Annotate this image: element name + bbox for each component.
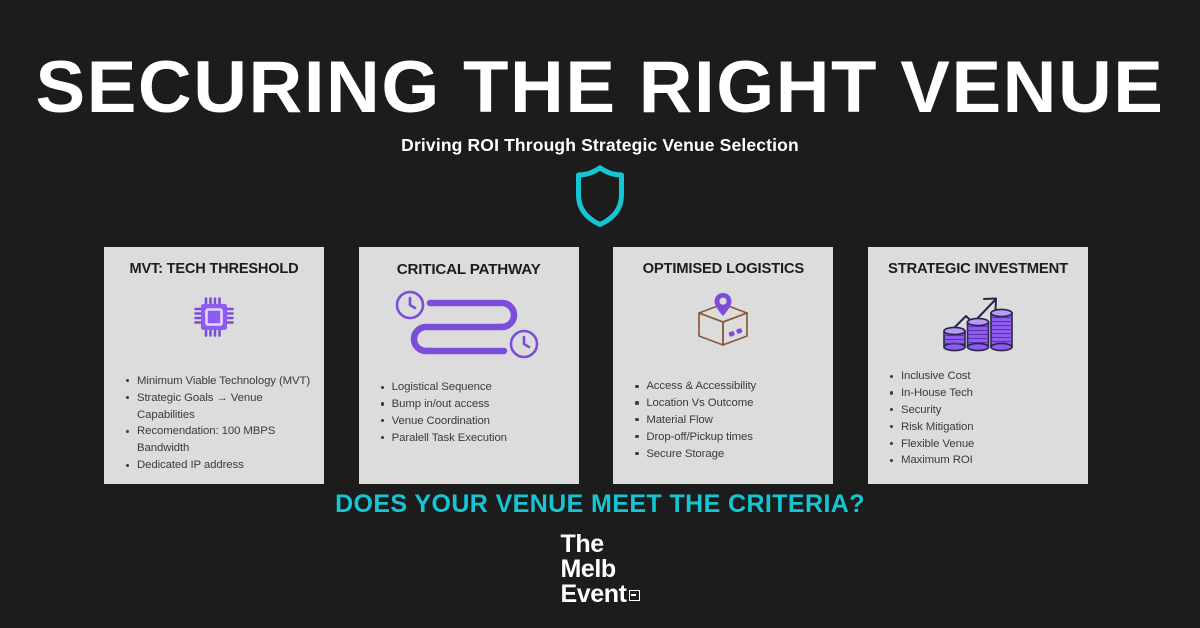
serpentine-path-clocks-icon [368, 284, 570, 362]
shield-icon-container [0, 165, 1200, 232]
list-item: Drop-off/Pickup times [634, 429, 824, 446]
card-title: CRITICAL PATHWAY [368, 261, 570, 278]
logo-line-3-wrap: Event [560, 582, 639, 607]
card-title: MVT: TECH THRESHOLD [113, 261, 315, 277]
shield-icon [574, 165, 626, 232]
list-item: Security [889, 402, 1079, 419]
list-item: Strategic Goals → Venue Capabilities [125, 390, 315, 424]
list-item: Secure Storage [634, 446, 824, 463]
list-item: Minimum Viable Technology (MVT) [125, 373, 315, 390]
list-item: In-House Tech [889, 385, 1079, 402]
page-title: SECURING THE RIGHT VENUE [0, 53, 1200, 123]
package-location-pin-icon [622, 283, 824, 361]
card-bullet-list: Logistical Sequence Bump in/out access V… [368, 379, 570, 447]
list-item: Venue Coordination [380, 413, 570, 430]
list-item: Maximum ROI [889, 452, 1079, 469]
card-title: STRATEGIC INVESTMENT [877, 261, 1079, 277]
card-critical-pathway[interactable]: CRITICAL PATHWAY Logistical Sequence Bum… [359, 247, 579, 484]
logo-line-3: Event [560, 580, 626, 608]
card-bullet-list: Access & Accessibility Location Vs Outco… [622, 378, 824, 462]
brand-logo: The Melb Event [560, 532, 639, 606]
list-item: Location Vs Outcome [634, 395, 824, 412]
card-bullet-list: Minimum Viable Technology (MVT) Strategi… [113, 373, 315, 474]
list-item: Flexible Venue [889, 436, 1079, 453]
cards-row: MVT: TECH THRESHOLD Minimum Viable Techn… [104, 247, 1088, 484]
card-mvt-tech-threshold[interactable]: MVT: TECH THRESHOLD Minimum Viable Techn… [104, 247, 324, 484]
card-optimised-logistics[interactable]: OPTIMISED LOGISTICS Access & Accessi [613, 247, 833, 484]
card-title: OPTIMISED LOGISTICS [622, 261, 824, 277]
page-subtitle: Driving ROI Through Strategic Venue Sele… [0, 135, 1200, 156]
list-item: Logistical Sequence [380, 379, 570, 396]
card-bullet-list: Inclusive Cost In-House Tech Security Ri… [877, 368, 1079, 469]
card-strategic-investment[interactable]: STRATEGIC INVESTMENT [868, 247, 1088, 484]
list-item: Dedicated IP address [125, 457, 315, 474]
list-item: Risk Mitigation [889, 419, 1079, 436]
list-item: Inclusive Cost [889, 368, 1079, 385]
header: SECURING THE RIGHT VENUE Driving ROI Thr… [0, 0, 1200, 156]
microchip-icon [113, 283, 315, 351]
logo-line-1: The [560, 532, 639, 557]
footer: DOES YOUR VENUE MEET THE CRITERIA? The M… [0, 490, 1200, 607]
list-item: Material Flow [634, 412, 824, 429]
list-item: Paralell Task Execution [380, 430, 570, 447]
cta-text: DOES YOUR VENUE MEET THE CRITERIA? [0, 490, 1200, 519]
logo-mark-icon [629, 590, 640, 601]
logo-line-2: Melb [560, 557, 639, 582]
list-item: Bump in/out access [380, 396, 570, 413]
list-item: Recomendation: 100 MBPS Bandwidth [125, 423, 315, 457]
list-item: Access & Accessibility [634, 378, 824, 395]
coin-stacks-growth-arrow-icon [877, 283, 1079, 361]
